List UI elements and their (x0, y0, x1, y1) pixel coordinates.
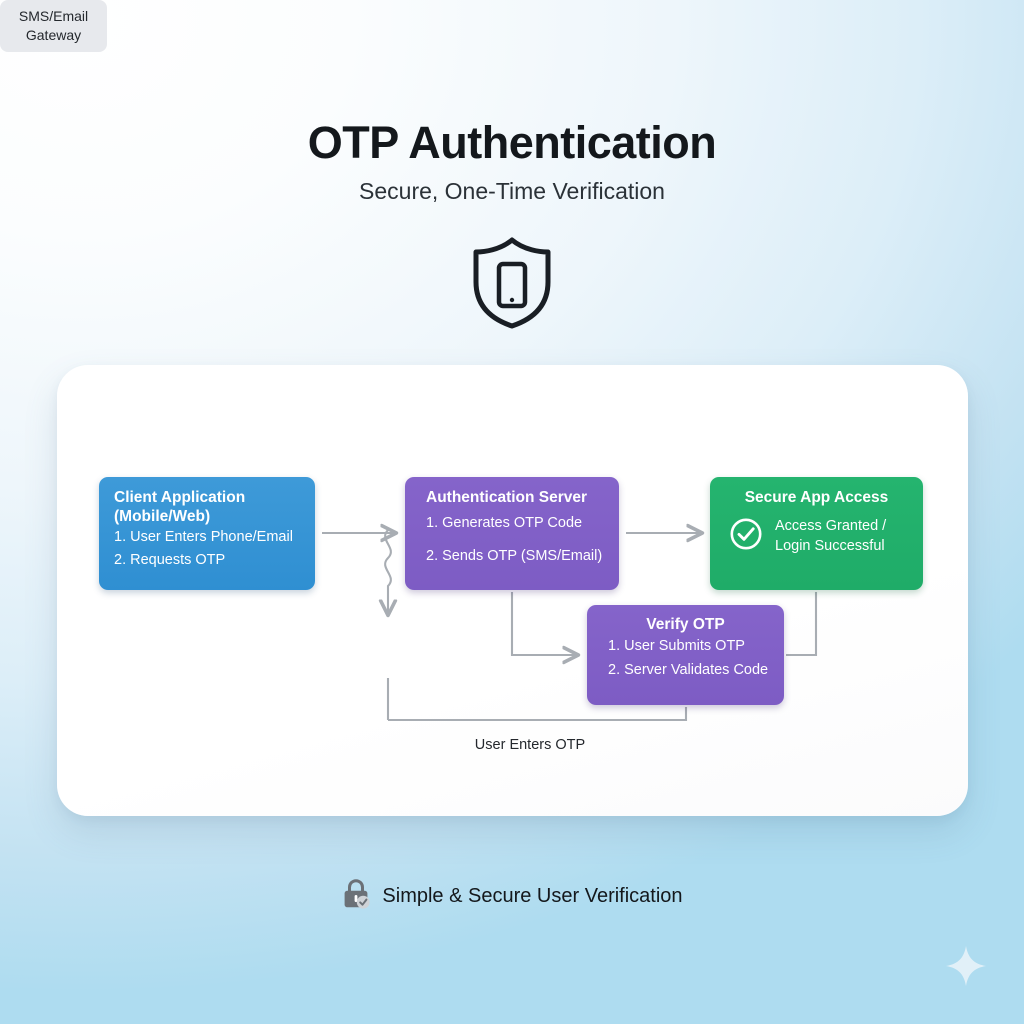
node-verify-otp[interactable]: Verify OTP 1. User Submits OTP 2. Server… (587, 605, 784, 705)
edge-label-user-enters-otp: User Enters OTP (380, 737, 680, 753)
sparkle-icon (944, 944, 988, 988)
page-subtitle: Secure, One-Time Verification (0, 178, 1024, 205)
node-title: SMS/Email (19, 7, 88, 26)
node-title: Verify OTP (587, 615, 784, 634)
node-access-text: Access Granted / Login Successful (775, 516, 886, 556)
page-title: OTP Authentication (0, 117, 1024, 169)
node-authentication-server[interactable]: Authentication Server 1. Generates OTP C… (405, 477, 619, 590)
node-line: 1. User Enters Phone/Email (114, 526, 301, 549)
lock-check-icon (341, 878, 371, 915)
node-line: 2. Requests OTP (114, 549, 301, 572)
node-line: 2. Sends OTP (SMS/Email) (426, 540, 605, 573)
node-secure-app-access[interactable]: Secure App Access Access Granted / Login… (710, 477, 923, 590)
node-client-application[interactable]: Client Application (Mobile/Web) 1. User … (99, 477, 315, 590)
node-line: Access Granted / (775, 518, 886, 534)
node-sms-email-gateway[interactable]: SMS/Email Gateway (0, 0, 107, 52)
node-line: Login Successful (775, 538, 885, 554)
node-subtitle: Gateway (26, 26, 81, 45)
node-title: Secure App Access (710, 488, 923, 507)
node-line: 1. Generates OTP Code (426, 507, 605, 540)
footer-text: Simple & Secure User Verification (382, 885, 682, 908)
shield-mobile-icon (470, 236, 554, 330)
node-title: Authentication Server (426, 488, 605, 507)
node-title: Client Application (114, 488, 301, 507)
check-circle-icon (729, 517, 763, 556)
node-line: 1. User Submits OTP (587, 634, 784, 658)
node-line: 2. Server Validates Code (587, 658, 784, 682)
node-subtitle: (Mobile/Web) (114, 507, 301, 526)
footer-tagline: Simple & Secure User Verification (0, 878, 1024, 915)
poster-canvas: OTP Authentication Secure, One-Time Veri… (0, 0, 1024, 1024)
